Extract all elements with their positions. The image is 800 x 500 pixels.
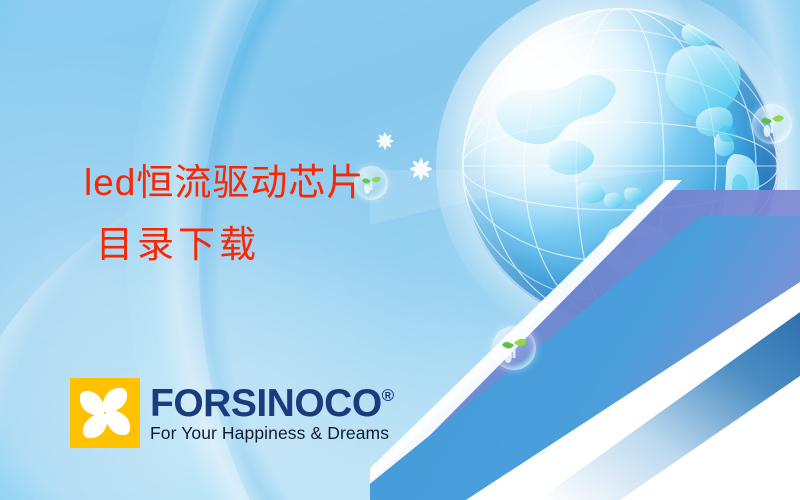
forsinoco-logo: FORSINOCO® For Your Happiness & Dreams: [70, 378, 394, 448]
bubble-sprout-right: [752, 104, 792, 144]
registered-trademark-symbol: ®: [382, 387, 394, 404]
company-tagline: For Your Happiness & Dreams: [150, 425, 394, 443]
sprout-icon: [752, 104, 792, 144]
sparkle-icon-1: [372, 128, 398, 154]
led-catalog-banner: led恒流驱动芯片 目录下载 FORSINOCO® For Your Happi…: [0, 0, 800, 500]
headline-line-1: led恒流驱动芯片: [84, 164, 504, 201]
headline: led恒流驱动芯片 目录下载: [84, 164, 504, 264]
company-name-text: FORSINOCO: [150, 385, 382, 422]
forsinoco-pinwheel-logo-icon: [70, 378, 140, 448]
company-name: FORSINOCO®: [150, 385, 394, 422]
bubble-sprout-lower: [492, 326, 536, 370]
sprout-icon: [492, 326, 536, 370]
headline-line-2: 目录下载: [96, 227, 504, 264]
logo-wordmark: FORSINOCO® For Your Happiness & Dreams: [150, 378, 394, 443]
